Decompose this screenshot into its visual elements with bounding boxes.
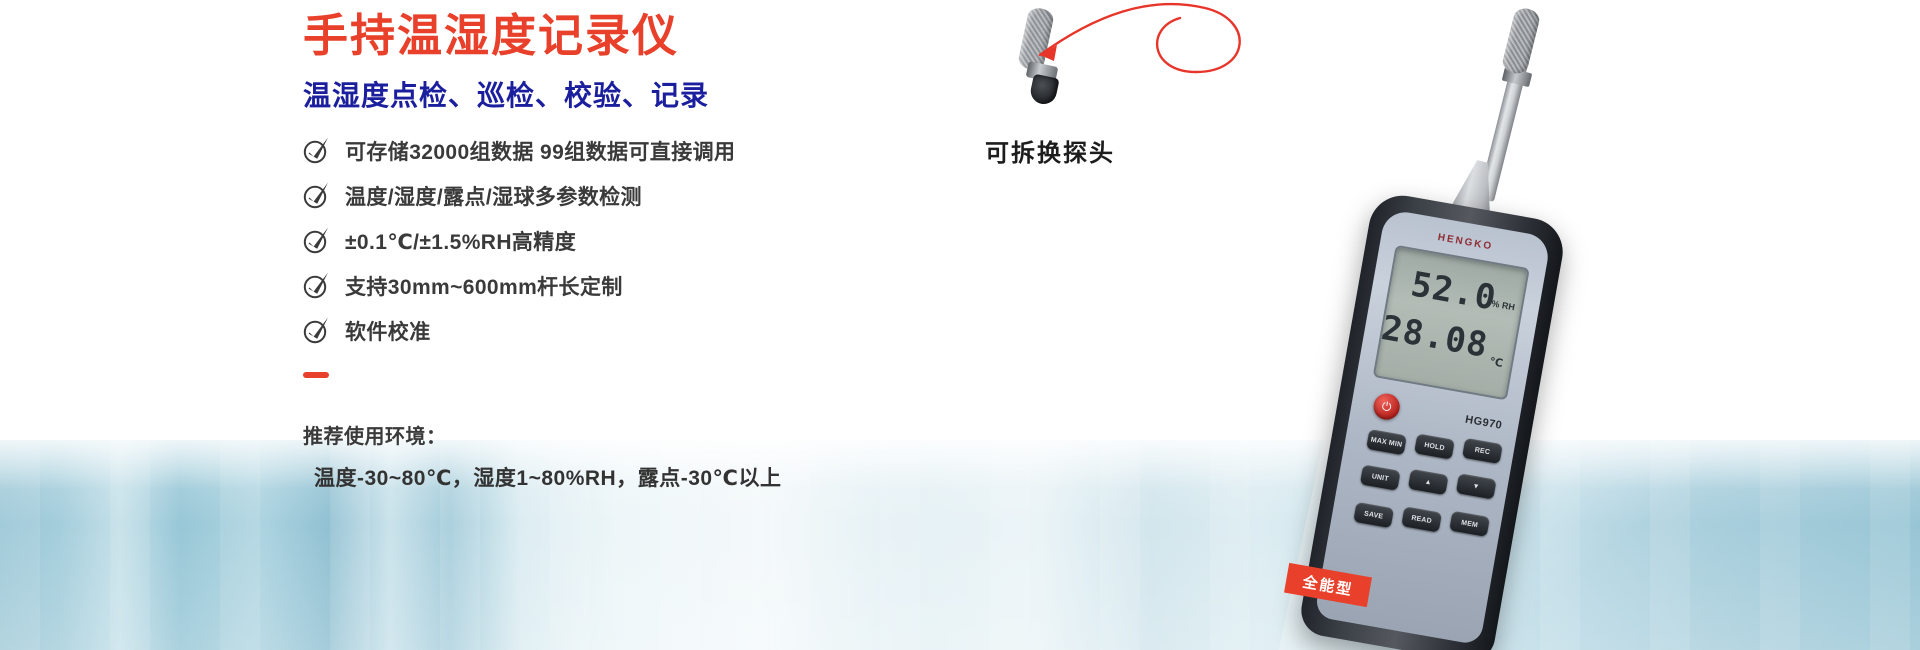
temperature-unit: ℃ — [1489, 355, 1504, 370]
humidity-unit: % RH — [1491, 298, 1516, 312]
list-item-label: ±0.1℃/±1.5%RH高精度 — [345, 226, 576, 256]
keypad-button[interactable]: MAX MIN — [1366, 429, 1407, 455]
keypad-button[interactable]: SAVE — [1353, 502, 1394, 528]
check-circle-icon — [303, 180, 331, 210]
check-circle-icon — [303, 270, 331, 300]
keypad-button[interactable]: HOLD — [1414, 433, 1455, 459]
marketing-copy-block: 手持温湿度记录仪 温湿度点检、巡检、校验、记录 可存储32000组数据 99组数… — [0, 0, 960, 650]
page-subtitle: 温湿度点检、巡检、校验、记录 — [303, 80, 709, 112]
list-item: 软件校准 — [303, 313, 735, 349]
power-icon[interactable]: ⏻ — [1372, 392, 1402, 422]
environment-value: 温度-30~80℃，湿度1~80%RH，露点-30℃以上 — [314, 462, 782, 492]
keypad-button[interactable]: ▲ — [1408, 469, 1449, 495]
probe-caption: 可拆换探头 — [985, 133, 1115, 168]
page-title: 手持温湿度记录仪 — [303, 11, 679, 61]
probe-rod-mesh-tip — [1500, 6, 1541, 76]
list-item: 支持30mm~600mm杆长定制 — [303, 268, 735, 304]
check-circle-icon — [303, 315, 331, 345]
check-circle-icon — [303, 135, 331, 165]
keypad-button[interactable]: MEM — [1449, 511, 1490, 537]
product-image-block: 可拆换探头 HENGKO 52.0 % RH 28.08 ℃ ⏻ HG970 — [960, 0, 1920, 650]
keypad-button[interactable]: ▼ — [1456, 473, 1497, 499]
list-item-label: 可存储32000组数据 99组数据可直接调用 — [345, 136, 735, 166]
list-item: 可存储32000组数据 99组数据可直接调用 — [303, 133, 735, 169]
temperature-reading: 28.08 — [1378, 308, 1491, 366]
list-item: ±0.1℃/±1.5%RH高精度 — [303, 223, 735, 259]
keypad-button[interactable]: REC — [1462, 438, 1503, 464]
product-banner: 手持温湿度记录仪 温湿度点检、巡检、校验、记录 可存储32000组数据 99组数… — [0, 0, 1920, 650]
humidity-reading: 52.0 — [1408, 264, 1500, 318]
list-item-label: 软件校准 — [345, 316, 431, 346]
list-item-label: 支持30mm~600mm杆长定制 — [345, 271, 623, 301]
environment-label: 推荐使用环境： — [303, 420, 447, 449]
keypad-button[interactable]: UNIT — [1360, 464, 1401, 490]
list-item-label: 温度/湿度/露点/湿球多参数检测 — [345, 181, 642, 211]
red-dash-divider — [303, 372, 329, 378]
lcd-display: 52.0 % RH 28.08 ℃ — [1373, 245, 1530, 401]
meter-device-image: HENGKO 52.0 % RH 28.08 ℃ ⏻ HG970 MAX MIN… — [1250, 10, 1670, 650]
keypad-button[interactable]: READ — [1401, 506, 1442, 532]
feature-list: 可存储32000组数据 99组数据可直接调用 温度/湿度/露点/湿球多参数检测 — [303, 133, 735, 358]
model-label: HG970 — [1464, 414, 1503, 432]
check-circle-icon — [303, 225, 331, 255]
list-item: 温度/湿度/露点/湿球多参数检测 — [303, 178, 735, 214]
